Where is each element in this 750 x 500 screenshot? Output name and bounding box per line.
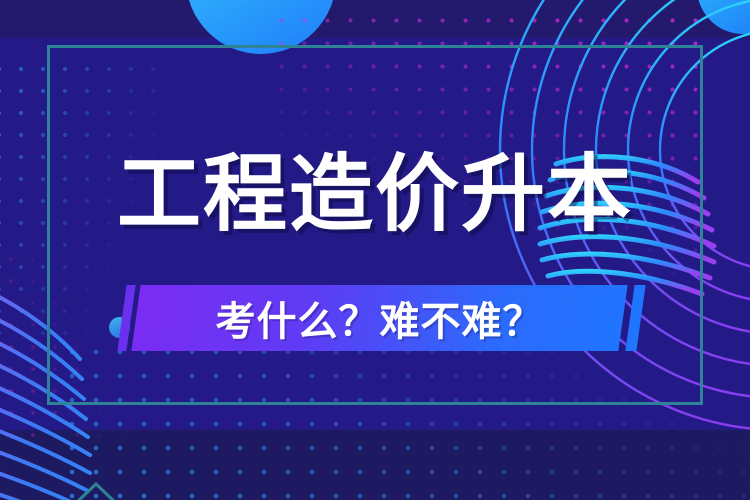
banner-accent-bar-right [625, 285, 645, 351]
subtitle-text: 考什么？难不难？ [136, 285, 623, 351]
chevron-outline-icon [50, 470, 170, 500]
poster-canvas: 工程造价升本 考什么？难不难？ [0, 0, 750, 500]
subtitle-banner: 考什么？难不难？ [0, 282, 750, 354]
page-title: 工程造价升本 [0, 152, 750, 236]
